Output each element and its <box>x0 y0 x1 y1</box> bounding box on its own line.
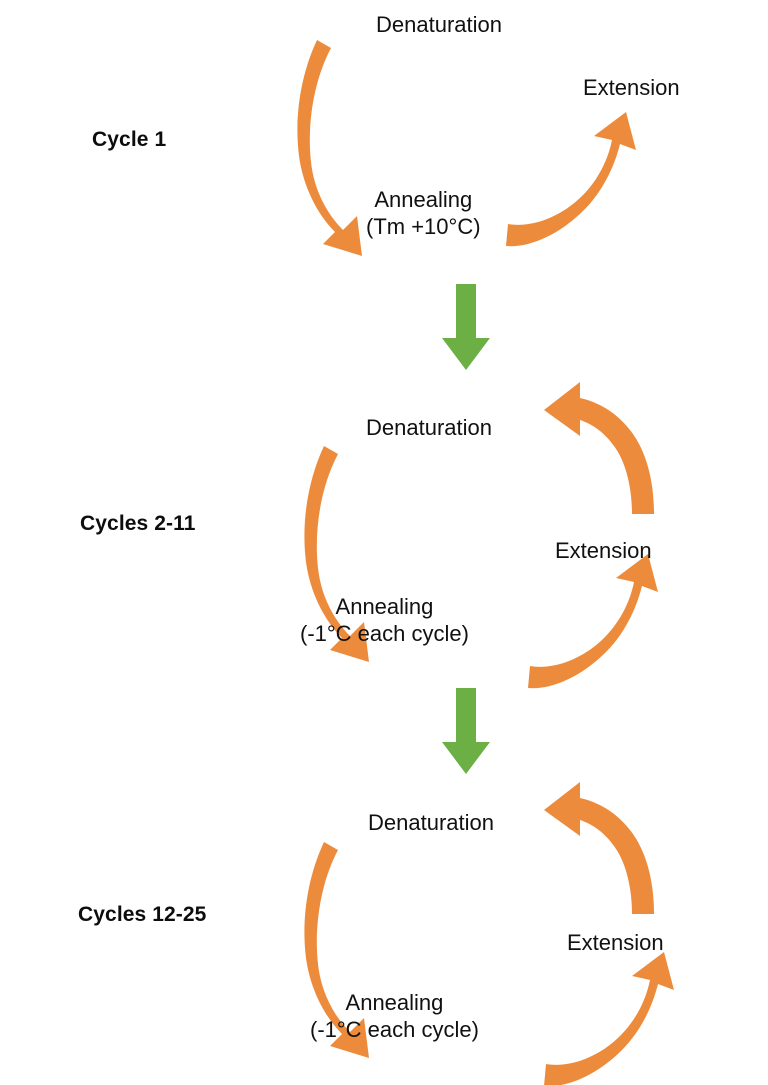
cycle-1-step-denaturation: Denaturation <box>376 12 502 39</box>
cycle-2-step-extension: Extension <box>555 538 652 565</box>
stage-label-cycle-3: Cycles 12-25 <box>78 903 206 927</box>
cycle-1-annealing-name: Annealing <box>374 187 472 212</box>
cycle-3-step-annealing: Annealing (-1°C each cycle) <box>310 990 479 1044</box>
transition-1-to-2-down-arrow-icon <box>442 284 490 370</box>
stage-label-cycle-1: Cycle 1 <box>92 128 166 152</box>
cycle-3-annealing-to-extension-arrow <box>544 952 674 1085</box>
cycle-1-step-extension: Extension <box>583 75 680 102</box>
diagram-canvas: Cycle 1 Denaturation Extension Annealing… <box>0 0 768 1085</box>
stage-label-cycle-2: Cycles 2-11 <box>80 512 196 536</box>
cycle-3-annealing-detail: (-1°C each cycle) <box>310 1017 479 1044</box>
cycle-2-step-annealing: Annealing (-1°C each cycle) <box>300 594 469 648</box>
cycle-2-annealing-to-extension-arrow <box>528 554 658 688</box>
cycle-2-step-denaturation: Denaturation <box>366 415 492 442</box>
cycle-2-extension-to-denaturation-arrow <box>544 382 654 514</box>
cycle-3-annealing-name: Annealing <box>346 990 444 1015</box>
cycle-2-annealing-name: Annealing <box>336 594 434 619</box>
cycle-1-denaturation-to-annealing-arrow <box>297 40 362 256</box>
transition-2-to-3-down-arrow-icon <box>442 688 490 774</box>
cycle-2-annealing-detail: (-1°C each cycle) <box>300 621 469 648</box>
cycle-3-extension-to-denaturation-arrow <box>544 782 654 914</box>
cycle-1-annealing-to-extension-arrow <box>506 112 636 246</box>
cycle-3-step-extension: Extension <box>567 930 664 957</box>
cycle-1-step-annealing: Annealing (Tm +10°C) <box>366 187 481 241</box>
cycle-1-annealing-detail: (Tm +10°C) <box>366 214 481 241</box>
cycle-3-step-denaturation: Denaturation <box>368 810 494 837</box>
